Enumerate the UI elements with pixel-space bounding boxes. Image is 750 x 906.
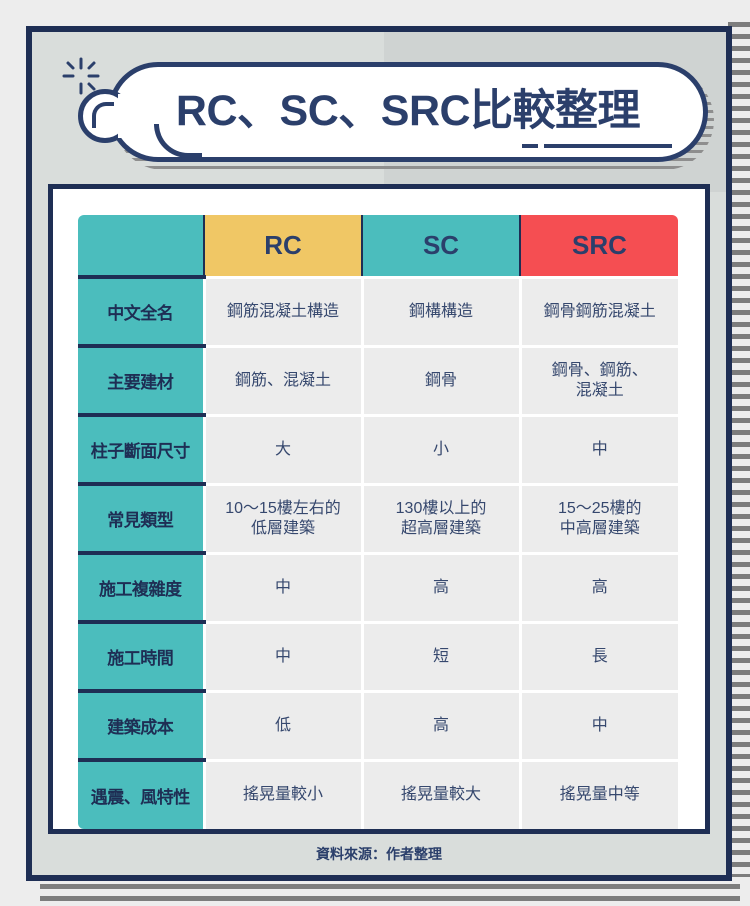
- cell-sc: 小: [362, 415, 520, 484]
- header-sc: SC: [362, 215, 520, 277]
- comparison-table: RC SC SRC 中文全名 鋼筋混凝土構造 鋼構構造 鋼骨鋼筋混凝土 主要建材…: [78, 215, 678, 829]
- cell-rc: 大: [204, 415, 362, 484]
- cell-sc: 130樓以上的超高層建築: [362, 484, 520, 553]
- cell-src: 15～25樓的中高層建築: [520, 484, 678, 553]
- cell-sc: 短: [362, 622, 520, 691]
- title-underline-decoration: [522, 144, 672, 148]
- cell-rc: 低: [204, 691, 362, 760]
- cell-sc: 搖晃量較大: [362, 760, 520, 829]
- row-label: 柱子斷面尺寸: [78, 415, 204, 484]
- row-label: 施工複雜度: [78, 553, 204, 622]
- source-note: 資料來源：作者整理: [32, 844, 726, 864]
- table-row: 施工時間 中 短 長: [78, 622, 678, 691]
- table-row: 建築成本 低 高 中: [78, 691, 678, 760]
- table-row: 常見類型 10～15樓左右的低層建築 130樓以上的超高層建築 15～25樓的中…: [78, 484, 678, 553]
- cell-src: 鋼骨、鋼筋、混凝土: [520, 346, 678, 415]
- cell-src: 高: [520, 553, 678, 622]
- header-src: SRC: [520, 215, 678, 277]
- row-label: 中文全名: [78, 277, 204, 346]
- table-row: 柱子斷面尺寸 大 小 中: [78, 415, 678, 484]
- comparison-table-card: RC SC SRC 中文全名 鋼筋混凝土構造 鋼構構造 鋼骨鋼筋混凝土 主要建材…: [48, 184, 710, 834]
- speech-bubble-tail-mask: [118, 94, 134, 138]
- cell-src: 搖晃量中等: [520, 760, 678, 829]
- cell-rc: 中: [204, 622, 362, 691]
- row-label: 施工時間: [78, 622, 204, 691]
- header-blank-cell: [78, 215, 204, 277]
- cell-src: 長: [520, 622, 678, 691]
- cell-rc: 鋼筋、混凝土: [204, 346, 362, 415]
- cell-sc: 高: [362, 691, 520, 760]
- row-label: 常見類型: [78, 484, 204, 553]
- poster-frame: RC、SC、SRC比較整理: [26, 26, 732, 881]
- cell-rc: 鋼筋混凝土構造: [204, 277, 362, 346]
- table-row: 中文全名 鋼筋混凝土構造 鋼構構造 鋼骨鋼筋混凝土: [78, 277, 678, 346]
- page-title: RC、SC、SRC比較整理: [176, 90, 640, 133]
- cell-rc: 搖晃量較小: [204, 760, 362, 829]
- row-label: 遇震、風特性: [78, 760, 204, 829]
- cell-src: 中: [520, 691, 678, 760]
- table-row: 遇震、風特性 搖晃量較小 搖晃量較大 搖晃量中等: [78, 760, 678, 829]
- sparkle-icon: [62, 57, 100, 95]
- cell-sc: 鋼骨: [362, 346, 520, 415]
- table-row: 施工複雜度 中 高 高: [78, 553, 678, 622]
- table-header-row: RC SC SRC: [78, 215, 678, 277]
- table-body: 中文全名 鋼筋混凝土構造 鋼構構造 鋼骨鋼筋混凝土 主要建材 鋼筋、混凝土 鋼骨…: [78, 277, 678, 829]
- cell-src: 中: [520, 415, 678, 484]
- cell-rc: 中: [204, 553, 362, 622]
- bottom-edge-stripes: [40, 884, 740, 906]
- cell-sc: 鋼構構造: [362, 277, 520, 346]
- cell-sc: 高: [362, 553, 520, 622]
- row-label: 主要建材: [78, 346, 204, 415]
- header-rc: RC: [204, 215, 362, 277]
- row-label: 建築成本: [78, 691, 204, 760]
- cell-rc: 10～15樓左右的低層建築: [204, 484, 362, 553]
- cell-src: 鋼骨鋼筋混凝土: [520, 277, 678, 346]
- table-row: 主要建材 鋼筋、混凝土 鋼骨 鋼骨、鋼筋、混凝土: [78, 346, 678, 415]
- title-zone: RC、SC、SRC比較整理: [32, 32, 726, 192]
